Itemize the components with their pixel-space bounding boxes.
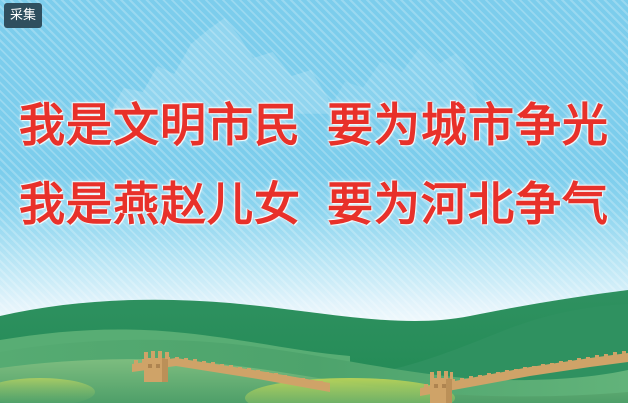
slogan-line-2: 我是燕赵儿女要为河北争气	[0, 181, 628, 227]
slogan-line-1-left: 我是文明市民	[19, 98, 301, 152]
great-wall-right-tower-shadow	[446, 378, 452, 403]
slogan-line-2-right: 要为河北争气	[327, 177, 609, 231]
slogan-line-2-left: 我是燕赵儿女	[19, 177, 301, 231]
slogan-line-1-right: 要为城市争光	[327, 98, 609, 152]
banner-screenshot: 我是文明市民要为城市争光 我是燕赵儿女要为河北争气 采集	[0, 0, 628, 403]
slogan-line-1: 我是文明市民要为城市争光	[0, 102, 628, 148]
collect-button[interactable]: 采集	[4, 3, 42, 28]
great-wall-left-tower-shadow	[162, 358, 168, 382]
